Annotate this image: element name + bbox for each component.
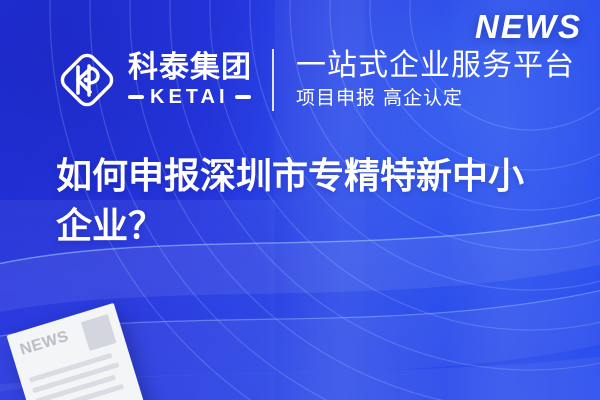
brand-wordmark: 科泰集团 KETAI bbox=[128, 53, 252, 108]
dash-left-icon bbox=[128, 95, 144, 99]
newspaper-thumbnail bbox=[81, 314, 117, 351]
brand-slogan: 一站式企业服务平台 项目申报 高企认定 bbox=[296, 49, 575, 111]
ketai-monogram-icon bbox=[56, 49, 118, 111]
brand-logo[interactable]: 科泰集团 KETAI bbox=[56, 49, 252, 111]
banner-header: 科泰集团 KETAI 一站式企业服务平台 项目申报 高企认定 bbox=[0, 34, 600, 126]
brand-name-en-row: KETAI bbox=[128, 87, 252, 107]
news-banner: 科泰集团 KETAI 一站式企业服务平台 项目申报 高企认定 NEWS 如何申报… bbox=[0, 0, 600, 400]
newspaper-masthead: NEWS bbox=[18, 329, 70, 359]
brand-name-cn: 科泰集团 bbox=[128, 53, 252, 84]
article-headline: 如何申报深圳市专精特新中小企业？ bbox=[56, 152, 556, 253]
slogan-main-text: 一站式企业服务平台 bbox=[296, 49, 575, 83]
header-divider bbox=[272, 49, 274, 111]
slogan-sub-text: 项目申报 高企认定 bbox=[296, 86, 575, 111]
news-wordmark: NEWS bbox=[475, 8, 582, 46]
brand-name-en: KETAI bbox=[150, 87, 229, 107]
dash-right-icon bbox=[235, 95, 251, 99]
